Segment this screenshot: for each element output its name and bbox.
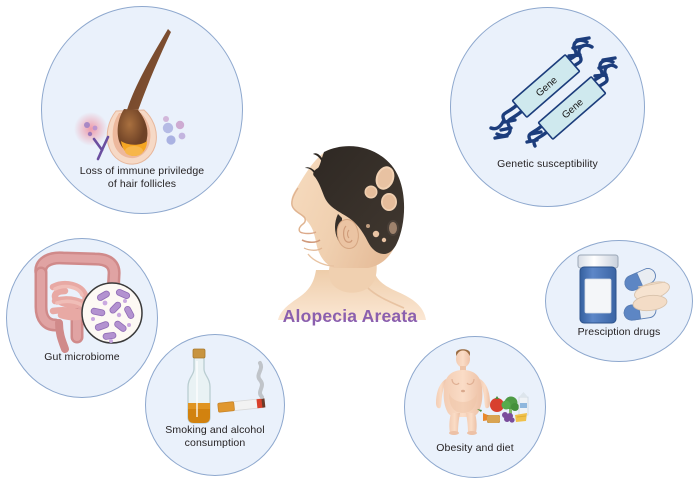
factor-label-genetic-susceptibility: Genetic susceptibility (451, 158, 644, 171)
hair-follicle-icon (72, 25, 212, 165)
bottle-cigarette-icon (168, 347, 272, 427)
factor-bubble-smoking-alcohol[interactable]: Smoking and alcohol consumption (145, 334, 285, 476)
factor-label-obesity-diet: Obesity and diet (405, 442, 545, 455)
factor-bubble-genetic-susceptibility[interactable]: Gene Gene Genetic susceptibility (450, 7, 645, 207)
factor-bubble-obesity-diet[interactable]: Obesity and diet (404, 336, 546, 478)
page-title: Alopecia Areata (250, 306, 450, 327)
factor-label-immune-privilege: Loss of immune priviledge of hair follic… (42, 165, 242, 190)
center-illustration (272, 130, 432, 320)
intestine-bacteria-icon (19, 251, 147, 355)
factor-bubble-prescription-drugs[interactable]: Presciption drugs (545, 240, 693, 362)
factor-bubble-immune-privilege[interactable]: Loss of immune priviledge of hair follic… (41, 6, 243, 214)
factor-label-prescription-drugs: Presciption drugs (546, 326, 692, 339)
diagram-canvas: Loss of immune priviledge of hair follic… (0, 0, 694, 481)
factor-label-smoking-alcohol: Smoking and alcohol consumption (146, 424, 284, 449)
factor-bubble-gut-microbiome[interactable]: Gut microbiome (6, 238, 158, 398)
factor-label-gut-microbiome: Gut microbiome (7, 351, 157, 364)
dna-gene-icon: Gene Gene (483, 28, 618, 148)
pill-bottle-icon (570, 251, 674, 327)
obese-figure-food-icon (425, 347, 529, 435)
head-profile-icon (272, 130, 432, 320)
